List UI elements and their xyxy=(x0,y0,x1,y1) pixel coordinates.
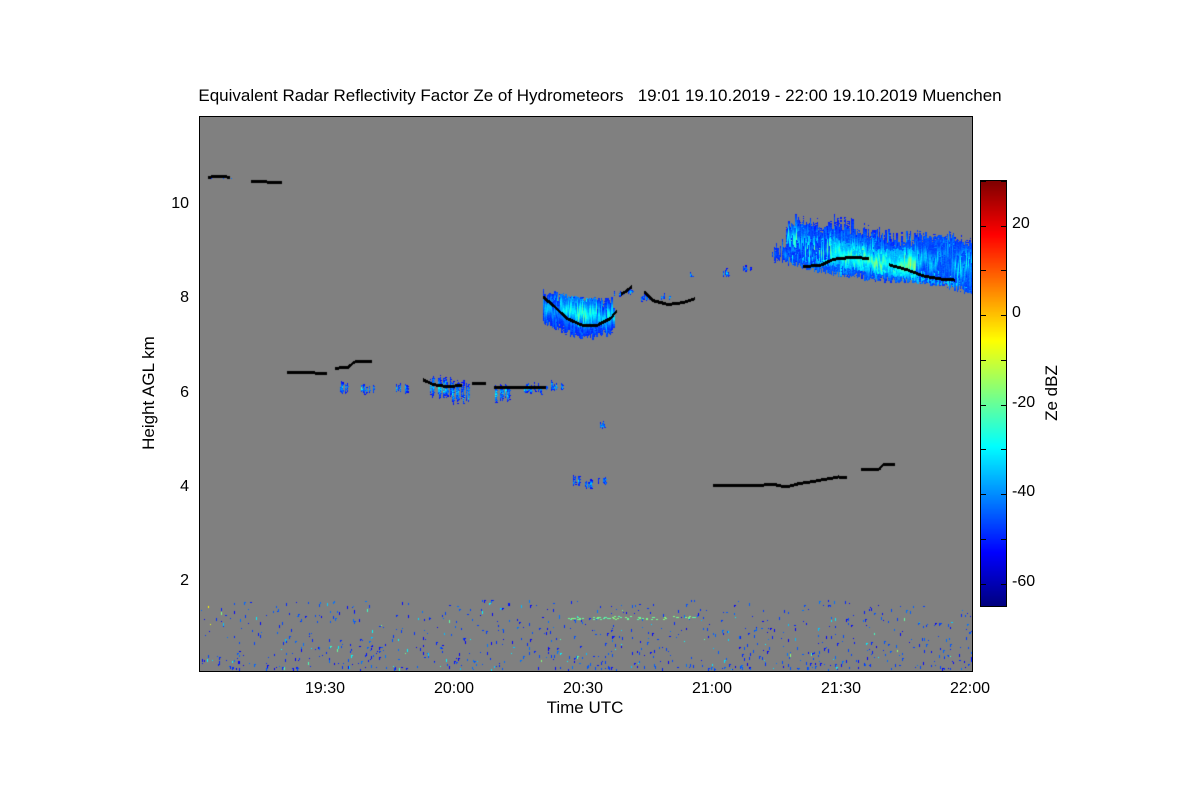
colorbar-tick xyxy=(1001,539,1006,540)
colorbar-tick xyxy=(981,270,986,271)
x-axis-tick-label: 21:00 xyxy=(662,680,762,698)
colorbar-tick xyxy=(981,494,986,495)
colorbar-tick xyxy=(981,584,986,585)
colorbar-tick xyxy=(981,449,986,450)
x-axis-tick-label: 19:30 xyxy=(275,680,375,698)
colorbar-tick xyxy=(1001,494,1006,495)
colorbar-tick-label: 20 xyxy=(1012,215,1030,233)
x-axis-tick-label: 22:00 xyxy=(920,680,1020,698)
colorbar xyxy=(980,180,1007,607)
colorbar-tick-label: -60 xyxy=(1012,573,1035,591)
colorbar-tick xyxy=(981,315,986,316)
colorbar-tick xyxy=(1001,270,1006,271)
y-axis-tick-label: 8 xyxy=(139,289,189,307)
colorbar-tick-label: -40 xyxy=(1012,483,1035,501)
y-axis-tick-label: 2 xyxy=(139,572,189,590)
radar-reflectivity-figure: Equivalent Radar Reflectivity Factor Ze … xyxy=(0,0,1200,800)
colorbar-tick xyxy=(981,226,986,227)
reflectivity-heatmap-canvas xyxy=(200,117,972,671)
colorbar-tick xyxy=(1001,584,1006,585)
colorbar-tick xyxy=(1001,405,1006,406)
colorbar-tick xyxy=(981,181,986,182)
colorbar-tick-label: 0 xyxy=(1012,304,1021,322)
figure-title: Equivalent Radar Reflectivity Factor Ze … xyxy=(0,86,1200,106)
y-axis-tick-label: 4 xyxy=(139,478,189,496)
colorbar-tick xyxy=(1001,181,1006,182)
colorbar-tick xyxy=(981,539,986,540)
x-axis-tick-label: 21:30 xyxy=(791,680,891,698)
colorbar-tick xyxy=(1001,226,1006,227)
colorbar-tick xyxy=(1001,360,1006,361)
x-axis-tick-label: 20:30 xyxy=(533,680,633,698)
colorbar-tick-label: -20 xyxy=(1012,394,1035,412)
colorbar-gradient xyxy=(981,181,1006,606)
colorbar-tick xyxy=(981,405,986,406)
colorbar-tick xyxy=(1001,449,1006,450)
y-axis-tick-label: 10 xyxy=(139,195,189,213)
x-axis-title: Time UTC xyxy=(199,698,971,718)
colorbar-tick xyxy=(981,360,986,361)
colorbar-tick xyxy=(1001,315,1006,316)
plot-area xyxy=(199,116,973,672)
x-axis-tick-label: 20:00 xyxy=(404,680,504,698)
